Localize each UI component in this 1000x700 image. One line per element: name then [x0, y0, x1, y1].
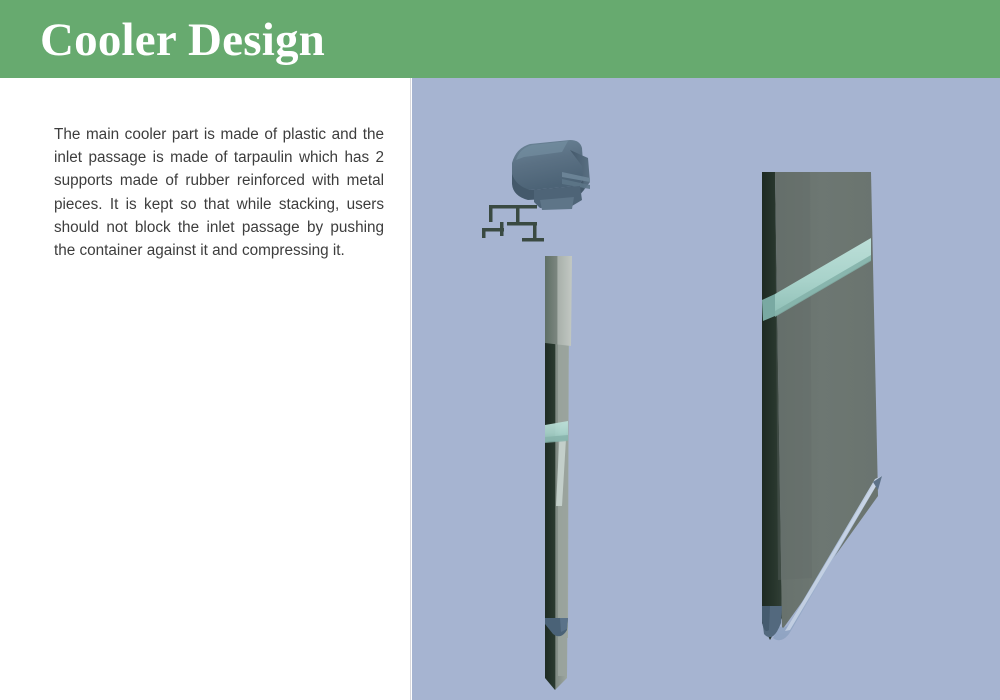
cooler-body-panel — [762, 172, 882, 640]
text-pane: The main cooler part is made of plastic … — [0, 78, 411, 700]
inlet-passage-column — [482, 140, 590, 690]
page-title: Cooler Design — [40, 14, 325, 66]
bracket-post-right — [533, 222, 537, 240]
bracket-post-outer — [500, 222, 504, 236]
slide-root: Cooler Design The main cooler part is ma… — [0, 0, 1000, 700]
column-bracket-assembly — [482, 205, 544, 242]
bracket-arm-bottom — [522, 238, 544, 242]
bracket-arm-top — [489, 205, 537, 209]
column-neck-upper — [545, 256, 572, 346]
cooler-3d-render — [412, 78, 1000, 700]
render-viewport — [412, 78, 1000, 700]
bracket-foot-left — [482, 228, 486, 238]
slide-header-bar: Cooler Design — [0, 0, 1000, 78]
panel-face-shading — [775, 172, 812, 580]
body-paragraph: The main cooler part is made of plastic … — [54, 123, 384, 262]
bracket-post-left — [489, 205, 493, 222]
bracket-arm-mid — [507, 222, 537, 226]
